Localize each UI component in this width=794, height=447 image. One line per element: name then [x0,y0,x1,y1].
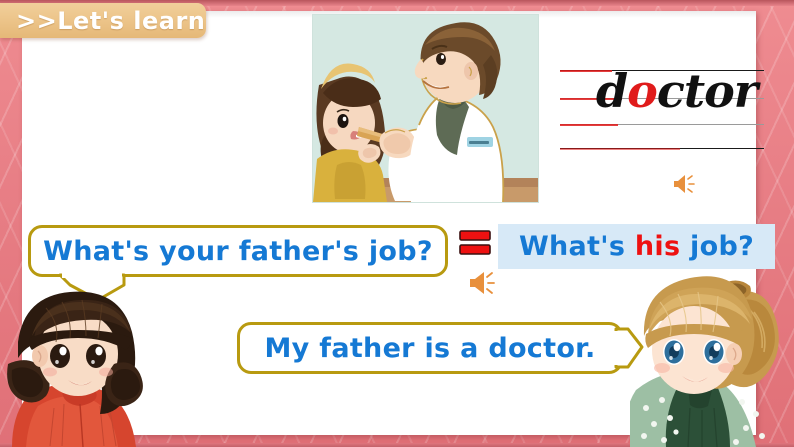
slide-canvas: >>Let's learn [0,0,794,447]
speaker-icon-dialogue[interactable] [468,270,498,296]
equivalent-suffix: job? [680,231,754,262]
equals-icon [459,228,493,258]
speech-bubble-answer: My father is a doctor. [237,322,623,374]
equivalent-sentence-text: What's his job? [519,231,754,262]
equivalent-prefix: What's [519,231,635,262]
word-part-prefix: d [596,64,627,118]
speech-bubble-question: What's your father's job? [28,225,448,277]
doctor-photo [312,14,539,203]
handwriting-guide: doctor [560,62,764,158]
speaker-icon-word[interactable] [672,173,698,195]
vocabulary-word: doctor [596,68,757,114]
title-banner-label: >>Let's learn [0,7,205,35]
character-girl-left [6,280,166,447]
word-part-suffix: ctor [657,64,757,118]
speech-bubble-answer-text: My father is a doctor. [265,333,596,364]
character-girl-right [630,262,782,447]
equivalent-highlight: his [635,231,680,262]
title-banner: >>Let's learn [0,3,206,38]
word-part-highlight: o [627,64,657,118]
speech-bubble-question-text: What's your father's job? [43,236,433,267]
